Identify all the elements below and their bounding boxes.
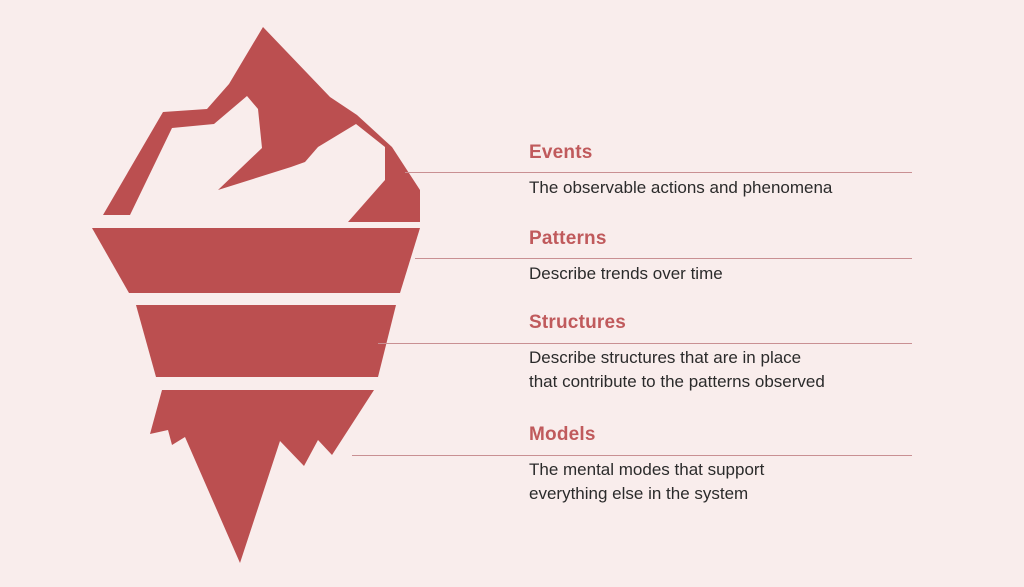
- iceberg-band-models: [150, 390, 374, 563]
- layer-description-structures: Describe structures that are in place th…: [529, 346, 825, 394]
- iceberg-band-patterns: [92, 228, 420, 293]
- iceberg-illustration: [0, 0, 1024, 587]
- layer-title-structures: Structures: [529, 313, 626, 334]
- layer-title-events: Events: [529, 143, 593, 164]
- connector-rule-events: [405, 172, 912, 173]
- layer-title-models: Models: [529, 425, 596, 446]
- layer-description-events: The observable actions and phenomena: [529, 176, 832, 200]
- layer-description-patterns: Describe trends over time: [529, 262, 723, 286]
- diagram-canvas: Events The observable actions and phenom…: [0, 0, 1024, 587]
- connector-rule-models: [352, 455, 912, 456]
- iceberg-band-structures: [136, 305, 396, 377]
- connector-rule-patterns: [415, 258, 912, 259]
- iceberg-tip-shape: [103, 27, 420, 222]
- layer-description-models: The mental modes that support everything…: [529, 458, 764, 506]
- connector-rule-structures: [378, 343, 912, 344]
- layer-title-patterns: Patterns: [529, 229, 607, 250]
